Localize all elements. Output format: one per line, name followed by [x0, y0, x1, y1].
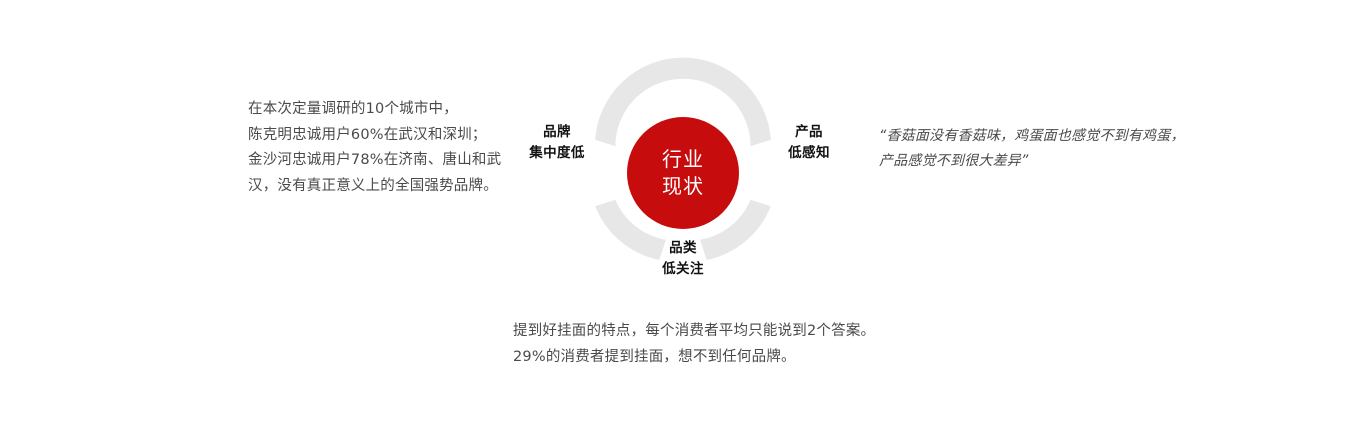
core-circle-industry-status: 行业 现状: [627, 117, 739, 229]
consumer-quote-line-2: 产品感觉不到很大差异”: [879, 149, 1209, 174]
industry-status-diagram: 行业 现状 品牌 集中度低 产品 低感知 品类 低关注: [585, 75, 781, 271]
slide-canvas: 在本次定量调研的10个城市中， 陈克明忠诚用户60%在武汉和深圳； 金沙河忠诚用…: [0, 0, 1361, 426]
left-note-line-4: 汉，没有真正意义上的全国强势品牌。: [248, 174, 516, 200]
bottom-note-line-2: 29%的消费者提到挂面，想不到任何品牌。: [513, 344, 933, 370]
diagram-label-product: 产品 低感知: [769, 122, 849, 164]
consumer-quote-line-1: “香菇面没有香菇味，鸡蛋面也感觉不到有鸡蛋，: [879, 124, 1209, 149]
bottom-note-text: 提到好挂面的特点，每个消费者平均只能说到2个答案。 29%的消费者提到挂面，想不…: [513, 318, 933, 370]
bottom-note-line-1: 提到好挂面的特点，每个消费者平均只能说到2个答案。: [513, 318, 933, 344]
left-note-text: 在本次定量调研的10个城市中， 陈克明忠诚用户60%在武汉和深圳； 金沙河忠诚用…: [248, 97, 516, 199]
left-note-line-1: 在本次定量调研的10个城市中，: [248, 97, 516, 123]
left-note-line-2: 陈克明忠诚用户60%在武汉和深圳；: [248, 123, 516, 149]
diagram-label-brand-line-1: 品牌: [517, 122, 597, 143]
diagram-label-category-line-1: 品类: [643, 238, 723, 259]
diagram-label-product-line-2: 低感知: [769, 143, 849, 164]
diagram-label-brand-line-2: 集中度低: [517, 143, 597, 164]
diagram-label-category-line-2: 低关注: [643, 259, 723, 280]
left-note-line-3: 金沙河忠诚用户78%在济南、唐山和武: [248, 148, 516, 174]
consumer-quote-text: “香菇面没有香菇味，鸡蛋面也感觉不到有鸡蛋， 产品感觉不到很大差异”: [879, 124, 1209, 174]
core-label-line-1: 行业: [662, 146, 704, 173]
diagram-label-product-line-1: 产品: [769, 122, 849, 143]
diagram-label-category: 品类 低关注: [643, 238, 723, 280]
diagram-label-brand: 品牌 集中度低: [517, 122, 597, 164]
core-label-line-2: 现状: [662, 173, 704, 200]
